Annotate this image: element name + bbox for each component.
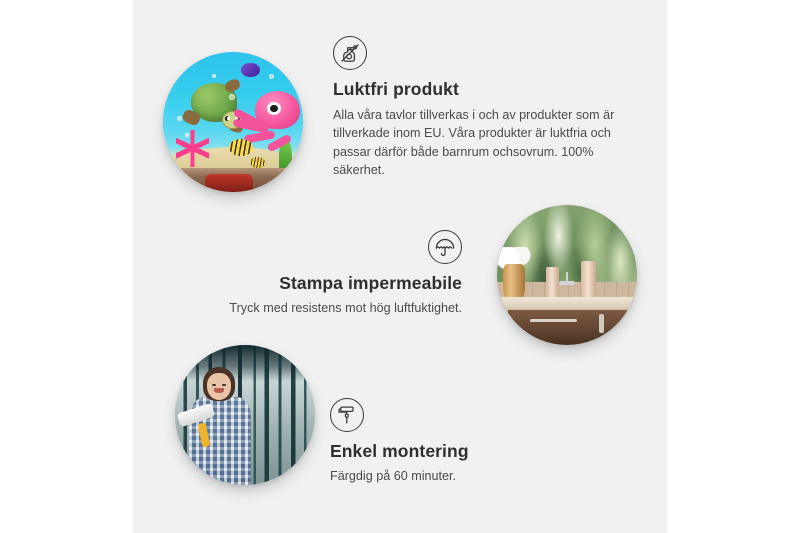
umbrella-icon xyxy=(428,230,462,264)
promo-banner: Luktfri produkt Alla våra tavlor tillver… xyxy=(0,0,800,533)
octopus-eye xyxy=(267,102,281,115)
purple-fish xyxy=(241,63,259,77)
woman-face xyxy=(207,373,231,400)
red-furniture xyxy=(205,174,253,192)
bathroom-botanical-wallpaper-photo xyxy=(497,205,637,345)
feature-title: Stampa impermeabile xyxy=(200,273,462,294)
decorator-forest-wallpaper-photo xyxy=(175,345,315,485)
feature-description: Tryck med resistens mot hög luftfuktighe… xyxy=(200,299,462,317)
feature-waterproof: Stampa impermeabile Tryck med resistens … xyxy=(200,230,462,317)
underwater-kids-mural-photo xyxy=(163,52,303,192)
ocean-scene xyxy=(163,52,303,192)
feature-description: Färgdig på 60 minuter. xyxy=(330,467,580,485)
toiletry-bottle xyxy=(546,267,559,298)
striped-fish xyxy=(229,139,253,156)
forest-scene xyxy=(175,345,315,485)
feature-odourless: Luktfri produkt Alla våra tavlor tillver… xyxy=(333,36,623,179)
toiletry-bottle xyxy=(581,261,596,297)
paint-roller-icon xyxy=(330,398,364,432)
faucet xyxy=(559,281,576,285)
bubble xyxy=(229,94,235,100)
bathroom-scene xyxy=(497,205,637,345)
forest-canopy xyxy=(175,345,315,381)
feature-assembly: Enkel montering Färgdig på 60 minuter. xyxy=(330,398,580,485)
woman-smile xyxy=(214,388,224,392)
feature-title: Luktfri produkt xyxy=(333,79,623,100)
feature-description: Alla våra tavlor tillverkas i och av pro… xyxy=(333,106,623,179)
gold-vase xyxy=(503,264,525,300)
pink-coral xyxy=(176,130,210,166)
feature-title: Enkel montering xyxy=(330,441,580,462)
wooden-vanity-cabinet xyxy=(508,310,637,345)
no-odour-perfume-icon xyxy=(333,36,367,70)
